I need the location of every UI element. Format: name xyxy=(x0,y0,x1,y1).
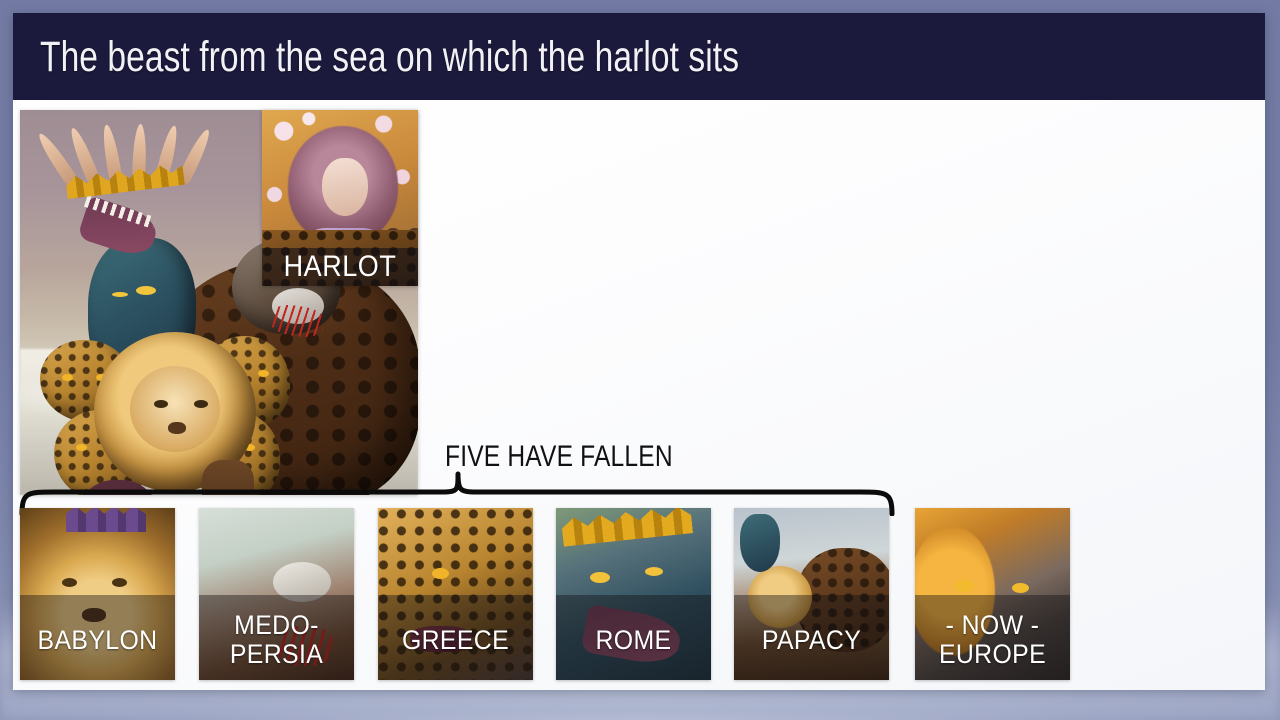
thumbnail-greece[interactable]: GREECE xyxy=(378,508,533,680)
dragon-eye-shape xyxy=(136,286,156,295)
five-have-fallen-caption: FIVE HAVE FALLEN xyxy=(445,441,673,473)
thumbnail-rome[interactable]: ROME xyxy=(556,508,711,680)
label-line: - NOW - xyxy=(946,611,1040,640)
thumbnail-label-greece: GREECE xyxy=(384,600,527,680)
thumbnail-papacy[interactable]: PAPACY xyxy=(734,508,889,680)
lion-eye-shape xyxy=(154,400,168,408)
thumbnail-label-papacy: PAPACY xyxy=(740,600,883,680)
label-line: PERSIA xyxy=(230,640,323,669)
label-line: GREECE xyxy=(402,626,509,655)
thumbnail-babylon[interactable]: BABYLON xyxy=(20,508,175,680)
label-line: ROME xyxy=(595,626,671,655)
lion-nose-shape xyxy=(168,422,186,434)
thumbnail-label-now-europe: - NOW - EUROPE xyxy=(921,600,1064,680)
thumbnail-medo-persia[interactable]: MEDO- PERSIA xyxy=(199,508,354,680)
slide-title-bar: The beast from the sea on which the harl… xyxy=(13,13,1265,100)
label-line: BABYLON xyxy=(38,626,158,655)
thumbnail-label-rome: ROME xyxy=(562,600,705,680)
label-line: EUROPE xyxy=(939,640,1046,669)
harlot-face-shape xyxy=(322,158,368,216)
lion-face-shape xyxy=(130,366,220,452)
harlot-label: HARLOT xyxy=(270,250,410,284)
thumbnail-label-medo-persia: MEDO- PERSIA xyxy=(205,600,348,680)
thumbnail-now-europe[interactable]: - NOW - EUROPE xyxy=(915,508,1070,680)
label-line: PAPACY xyxy=(762,626,861,655)
harlot-inset-image: HARLOT xyxy=(262,110,418,286)
kingdom-thumbnail-strip: BABYLON MEDO- PERSIA GREECE xyxy=(20,508,1260,681)
slide-title: The beast from the sea on which the harl… xyxy=(40,33,739,81)
thumbnail-label-babylon: BABYLON xyxy=(26,600,169,680)
slide-stage: The beast from the sea on which the harl… xyxy=(0,0,1280,720)
label-line: MEDO- xyxy=(234,611,319,640)
